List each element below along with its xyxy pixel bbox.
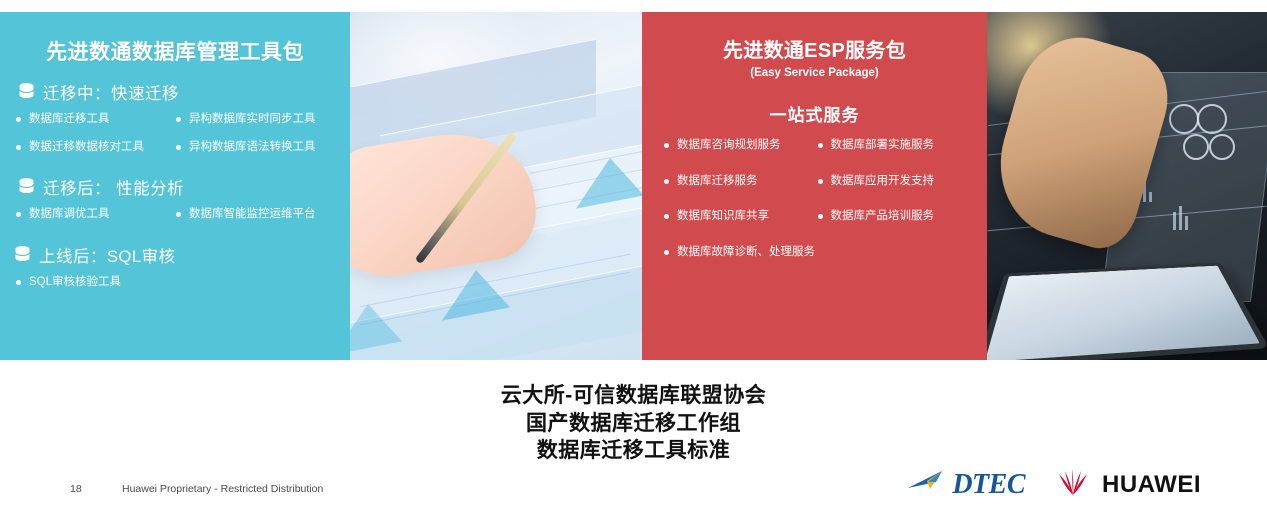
photo-ring-icon xyxy=(1197,104,1227,134)
list-item: SQL审核核验工具 xyxy=(16,277,336,289)
list-item: 数据库迁移服务 xyxy=(664,176,818,188)
right-panel-title: 先进数通ESP服务包 xyxy=(658,34,971,63)
bottom-title-line-2: 国产数据库迁移工作组 xyxy=(0,410,1267,438)
dtec-wordmark: DTEC xyxy=(952,469,1025,501)
right-photo-tablet xyxy=(987,12,1267,360)
list-item-label: 数据库应用开发支持 xyxy=(831,176,935,188)
photo-ring-icon xyxy=(1169,104,1199,134)
list-item: 异构数据库实时同步工具 xyxy=(176,114,336,126)
photo-ring-icon xyxy=(1183,134,1209,160)
list-item: 异构数据库语法转换工具 xyxy=(176,142,336,154)
bullet-dot xyxy=(176,117,181,122)
list-item-label: 数据库智能监控运维平台 xyxy=(189,209,316,221)
bullet-dot xyxy=(664,179,669,184)
bullet-dot xyxy=(176,212,181,217)
list-item-label: 数据库部署实施服务 xyxy=(831,140,935,152)
list-item: 数据库应用开发支持 xyxy=(818,176,972,188)
list-item: 数据库智能监控运维平台 xyxy=(176,209,336,221)
bullet-dot xyxy=(664,250,669,255)
photo-tablet xyxy=(987,262,1267,360)
bottom-title-line-3: 数据库迁移工具标准 xyxy=(0,437,1267,465)
bullet-dot xyxy=(664,214,669,219)
list-item: 数据库调优工具 xyxy=(16,209,176,221)
photo-mini-bar xyxy=(1173,212,1176,230)
section-heading-after-migration: 迁移后： 性能分析 xyxy=(18,175,336,199)
right-panel-esp: 先进数通ESP服务包 (Easy Service Package) 一站式服务 … xyxy=(642,12,987,360)
database-icon xyxy=(18,177,35,197)
huawei-logo: HUAWEI xyxy=(1053,468,1201,501)
left-panel-toolkit: 先进数通数据库管理工具包 迁移中：快速迁移 数据库迁移工具 xyxy=(0,12,350,360)
list-item-label: 数据库产品培训服务 xyxy=(831,211,935,223)
bullet-dot xyxy=(16,212,21,217)
bullet-dot xyxy=(16,117,21,122)
section-heading-label: 上线后：SQL审核 xyxy=(39,243,176,267)
footer-note: Huawei Proprietary - Restricted Distribu… xyxy=(122,483,323,495)
bottom-title-block: 云大所-可信数据库联盟协会 国产数据库迁移工作组 数据库迁移工具标准 xyxy=(0,382,1267,465)
center-photo-charts xyxy=(350,12,642,360)
list-item-label: 数据库迁移工具 xyxy=(29,114,110,126)
section-heading-label: 迁移后： 性能分析 xyxy=(43,175,184,199)
photo-mini-bar xyxy=(1149,192,1152,202)
list-item-label: 数据库知识库共享 xyxy=(677,211,769,223)
right-panel-subtitle: (Easy Service Package) xyxy=(658,67,971,79)
bullet-dot xyxy=(818,179,823,184)
bullet-dot xyxy=(664,143,669,148)
database-icon xyxy=(18,82,35,102)
section-heading-label: 迁移中：快速迁移 xyxy=(43,80,179,104)
list-item-label: 数据迁移数据核对工具 xyxy=(29,142,144,154)
slide-root: 先进数通数据库管理工具包 迁移中：快速迁移 数据库迁移工具 xyxy=(0,0,1267,510)
list-item: 数据库故障诊断、处理服务 xyxy=(664,247,971,259)
list-item-label: SQL审核核验工具 xyxy=(29,277,121,289)
dtec-logo: DTEC xyxy=(906,468,1025,501)
bullet-list-esp-services: 数据库咨询规划服务 数据库部署实施服务 数据库迁移服务 数据库应用开发支持 数据… xyxy=(658,140,971,282)
bullet-dot xyxy=(16,280,21,285)
list-item-label: 数据库迁移服务 xyxy=(677,176,758,188)
huawei-wordmark: HUAWEI xyxy=(1102,471,1201,499)
list-item: 数据库知识库共享 xyxy=(664,211,818,223)
list-item: 数据库咨询规划服务 xyxy=(664,140,818,152)
list-item: 数据迁移数据核对工具 xyxy=(16,142,176,154)
page-number: 18 xyxy=(70,483,82,495)
section-heading-after-launch: 上线后：SQL审核 xyxy=(14,243,336,267)
bullet-dot xyxy=(818,214,823,219)
right-panel-heading: 一站式服务 xyxy=(658,101,971,126)
bullet-list-after-launch: SQL审核核验工具 xyxy=(14,277,336,305)
photo-mini-bar xyxy=(1179,206,1182,230)
database-icon xyxy=(14,245,31,265)
left-panel-title: 先进数通数据库管理工具包 xyxy=(14,36,336,66)
section-heading-during-migration: 迁移中：快速迁移 xyxy=(18,80,336,104)
dtec-mark-icon xyxy=(906,468,950,501)
banner-strip: 先进数通数据库管理工具包 迁移中：快速迁移 数据库迁移工具 xyxy=(0,12,1267,360)
photo-ring-icon xyxy=(1209,134,1235,160)
bullet-dot xyxy=(16,145,21,150)
footer-logos: DTEC HUAWEI xyxy=(906,468,1201,501)
list-item-label: 数据库故障诊断、处理服务 xyxy=(677,247,815,259)
bottom-title-line-1: 云大所-可信数据库联盟协会 xyxy=(0,382,1267,410)
list-item-label: 数据库调优工具 xyxy=(29,209,110,221)
bullet-dot xyxy=(818,143,823,148)
list-item-label: 数据库咨询规划服务 xyxy=(677,140,781,152)
list-item: 数据库产品培训服务 xyxy=(818,211,972,223)
list-item-label: 异构数据库实时同步工具 xyxy=(189,114,316,126)
bullet-list-during-migration: 数据库迁移工具 异构数据库实时同步工具 数据迁移数据核对工具 异构数据库语法转换… xyxy=(14,114,336,169)
huawei-flower-icon xyxy=(1053,468,1093,501)
bullet-list-after-migration: 数据库调优工具 数据库智能监控运维平台 xyxy=(14,209,336,237)
bullet-dot xyxy=(176,145,181,150)
list-item-label: 异构数据库语法转换工具 xyxy=(189,142,316,154)
list-item: 数据库迁移工具 xyxy=(16,114,176,126)
photo-mini-bar xyxy=(1185,216,1188,230)
list-item: 数据库部署实施服务 xyxy=(818,140,972,152)
